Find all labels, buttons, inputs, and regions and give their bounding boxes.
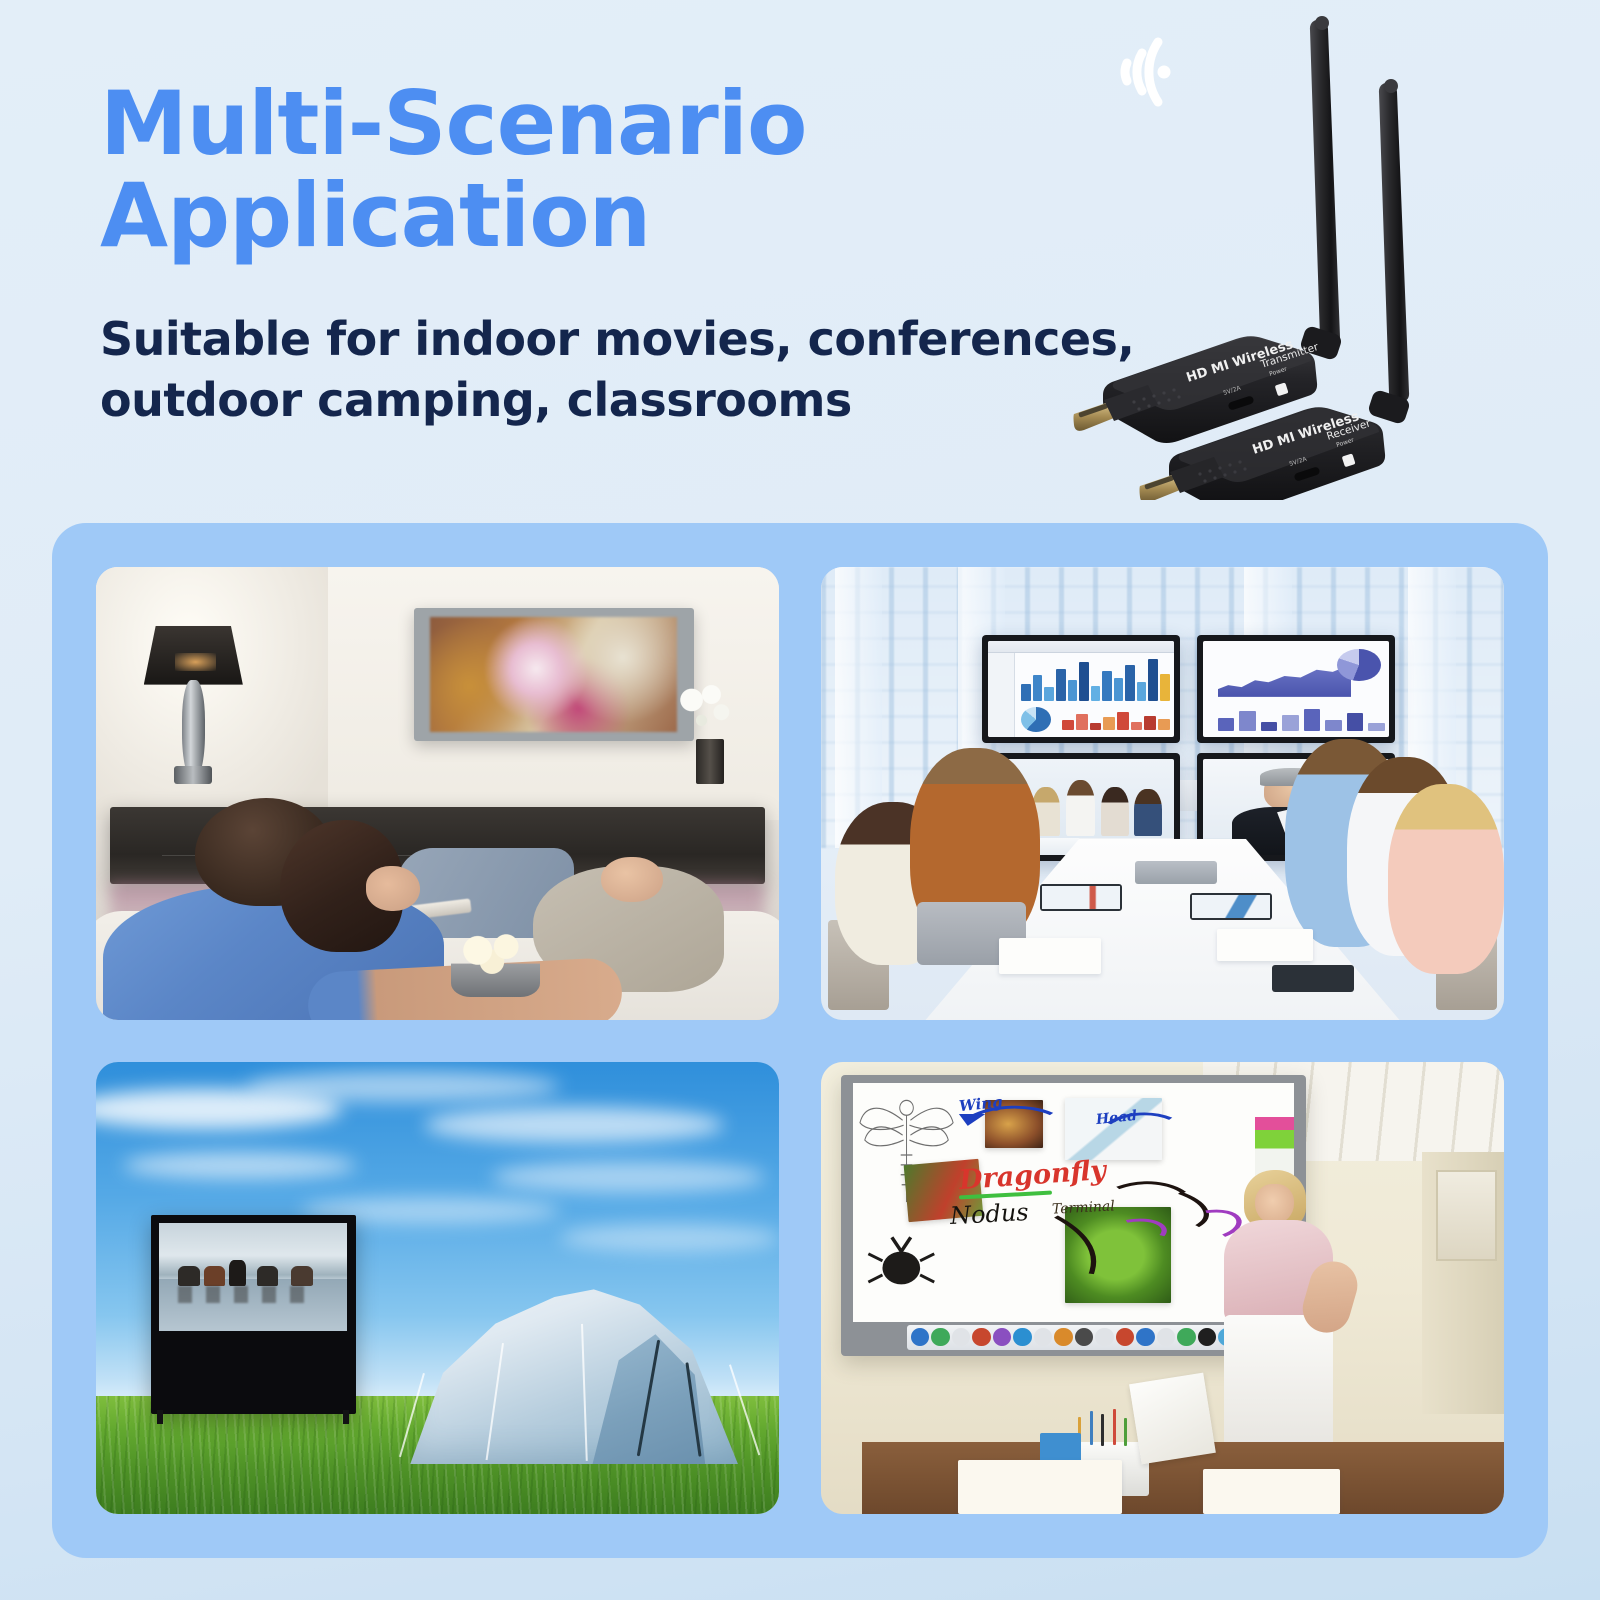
page-title: Multi-Scenario Application xyxy=(100,78,1160,261)
attendee-right-front xyxy=(1388,784,1504,974)
projected-image xyxy=(159,1223,347,1331)
popcorn-bowl xyxy=(451,934,540,997)
classroom-photo: Wing Head Dragonfly Nodus Terminal xyxy=(821,1062,1504,1515)
conference-scene[interactable] xyxy=(821,567,1504,1020)
dome-tent xyxy=(410,1274,738,1464)
outdoor-camping-scene[interactable] xyxy=(96,1062,779,1515)
table-lamp-stem xyxy=(182,680,205,780)
hdmi-wireless-devices: HD MI Wireless Transmitter 5V/2A Power H… xyxy=(1060,10,1490,500)
transmitter-antenna xyxy=(1310,19,1340,347)
product-illustration: HD MI Wireless Transmitter 5V/2A Power H… xyxy=(1060,10,1490,500)
clipboard-left xyxy=(999,938,1101,974)
page-title-line-2: Application xyxy=(100,170,1160,262)
dashboard-monitor-bar-charts xyxy=(982,635,1180,744)
worksheet xyxy=(1203,1469,1340,1514)
camping-field-photo xyxy=(96,1062,779,1515)
wall-mounted-tv xyxy=(414,608,694,741)
wall-poster xyxy=(1436,1170,1497,1261)
tv-screen xyxy=(430,617,676,732)
open-book xyxy=(958,1460,1122,1514)
page-title-line-1: Multi-Scenario xyxy=(100,78,1160,170)
classroom-scene[interactable]: Wing Head Dragonfly Nodus Terminal xyxy=(821,1062,1504,1515)
tablet-left xyxy=(1040,884,1122,911)
tablet-right xyxy=(1190,893,1272,920)
page-subtitle-line-2: outdoor camping, classrooms xyxy=(100,370,1160,431)
scenario-gallery: Wing Head Dragonfly Nodus Terminal xyxy=(52,523,1548,1558)
portable-projector-screen xyxy=(151,1215,356,1414)
page-subtitle: Suitable for indoor movies, conferences,… xyxy=(100,309,1160,430)
receiver-antenna xyxy=(1379,82,1409,402)
living-room-photo xyxy=(96,567,779,1020)
page-header: Multi-Scenario Application Suitable for … xyxy=(100,78,1160,430)
dashboard-monitor-area-chart xyxy=(1197,635,1395,744)
indoor-movies-scene[interactable] xyxy=(96,567,779,1020)
clipboard-right xyxy=(1217,929,1313,961)
conference-room-photo xyxy=(821,567,1504,1020)
page-subtitle-line-1: Suitable for indoor movies, conferences, xyxy=(100,309,1160,370)
held-paper xyxy=(1129,1373,1216,1465)
whiteboard-app-dock[interactable] xyxy=(907,1325,1241,1350)
